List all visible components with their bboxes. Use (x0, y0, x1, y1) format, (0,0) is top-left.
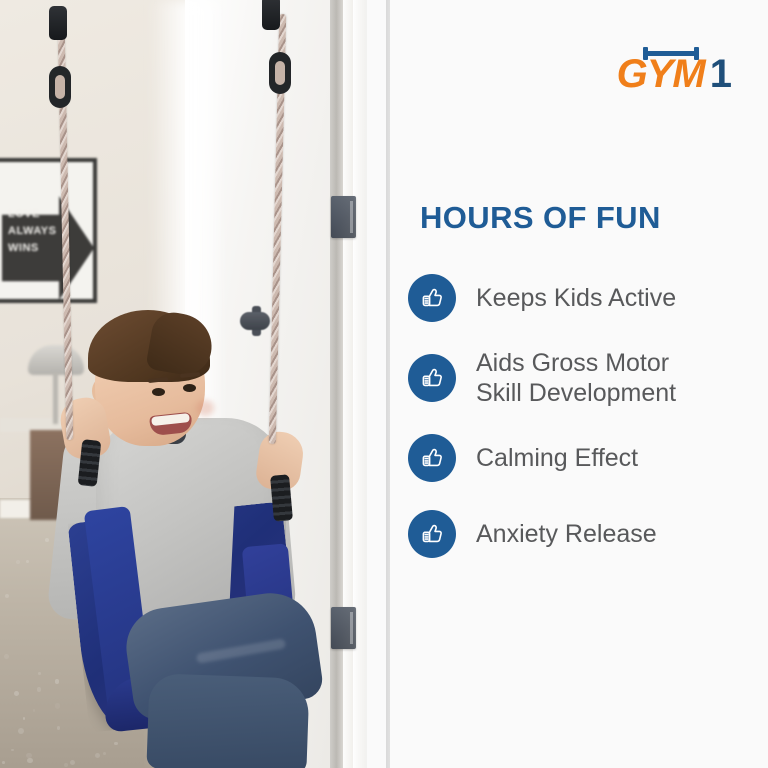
feature-list: Keeps Kids Active Aids Gross Motor Skill… (408, 272, 758, 584)
rope-clamp-left (49, 6, 67, 40)
product-feature-image: LOVE ALWAYS WINS (0, 0, 768, 768)
pullup-bar-icon (643, 51, 699, 56)
thumbs-up-icon (408, 354, 456, 402)
feature-label: Anxiety Release (476, 519, 657, 549)
brand-logo: GYM 1 (617, 46, 732, 94)
feature-item: Keeps Kids Active (408, 272, 758, 324)
feature-label: Keeps Kids Active (476, 283, 676, 313)
doorknob (240, 312, 270, 330)
adjuster-hole (275, 61, 285, 85)
page-title: HOURS OF FUN (420, 200, 661, 236)
framed-poster: LOVE ALWAYS WINS (0, 158, 97, 303)
photo-edge-fade (330, 0, 390, 768)
logo-gym-wrap: GYM (617, 54, 705, 94)
cheek (196, 400, 214, 416)
teeth (151, 413, 190, 426)
thumbs-up-icon (408, 274, 456, 322)
lamp-stem (53, 372, 58, 424)
logo-gym-text: GYM (617, 52, 705, 96)
thumbs-up-icon (408, 510, 456, 558)
eye-right (183, 384, 196, 392)
feature-item: Calming Effect (408, 432, 758, 484)
product-photo: LOVE ALWAYS WINS (0, 0, 390, 768)
thumbs-up-icon (408, 434, 456, 482)
feature-label: Calming Effect (476, 443, 638, 473)
feature-item: Aids Gross Motor Skill Development (408, 348, 758, 408)
feature-item: Anxiety Release (408, 508, 758, 560)
rope-adjuster-right (269, 52, 291, 94)
feature-label: Aids Gross Motor Skill Development (476, 348, 676, 408)
rope-grip-right (270, 474, 293, 521)
rope-clamp-right (262, 0, 280, 30)
info-panel: GYM 1 HOURS OF FUN Keeps Kids Active (390, 0, 768, 768)
legs-jeans-shin (146, 673, 309, 768)
logo-number: 1 (710, 54, 732, 94)
rope-adjuster-left (49, 66, 71, 108)
adjuster-hole (55, 75, 65, 99)
eye-left (152, 388, 165, 396)
